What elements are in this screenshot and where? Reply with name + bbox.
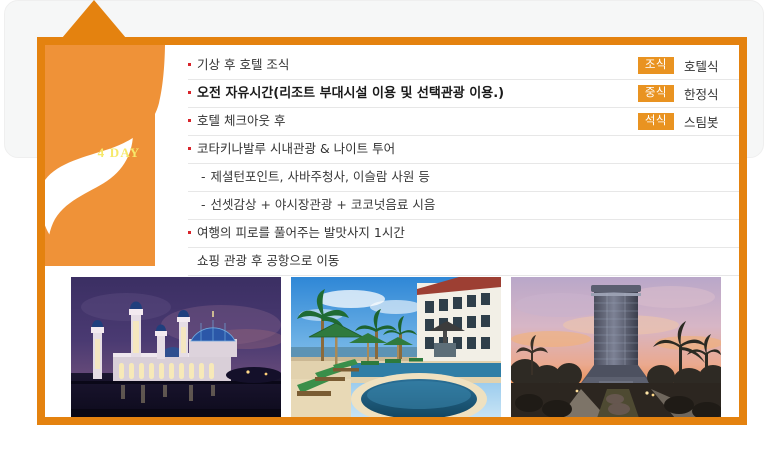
itinerary-row: 호텔 체크아웃 후 석식 스팀봇 <box>188 108 739 136</box>
itinerary-row: 기상 후 호텔 조식 조식 호텔식 <box>188 52 739 80</box>
meal-tag-badge: 조식 <box>638 57 674 74</box>
itinerary-row-text: 쇼핑 관광 후 공항으로 이동 <box>197 255 339 268</box>
itinerary-list: 기상 후 호텔 조식 조식 호텔식 오전 자유시간(리조트 부대시설 이용 및 … <box>188 52 739 276</box>
itinerary-row: 여행의 피로를 풀어주는 발맛사지 1시간 <box>188 220 739 248</box>
itinerary-row: 쇼핑 관광 후 공항으로 이동 <box>188 248 739 276</box>
top-pointer-arrow <box>62 0 126 38</box>
itinerary-row-text: 선셋감상 + 야시장관광 + 코코넛음료 시음 <box>211 199 436 212</box>
city-mosque-night-photo <box>71 277 281 417</box>
itinerary-row: - 제셜턴포인트, 사바주청사, 이슬람 사원 등 <box>188 164 739 192</box>
itinerary-row-text: 코타키나발루 시내관광 & 나이트 투어 <box>197 143 395 156</box>
itinerary-row-text: 호텔 체크아웃 후 <box>197 115 285 128</box>
itinerary-row: 오전 자유시간(리조트 부대시설 이용 및 선택관광 이용.) 중식 한정식 <box>188 80 739 108</box>
meal-tag-badge: 석식 <box>638 113 674 130</box>
sabah-tower-sunset-photo <box>511 277 721 417</box>
meal-entry: 중식 한정식 <box>638 84 736 103</box>
bullet-icon <box>188 119 191 122</box>
bullet-icon <box>188 91 191 94</box>
meal-entry: 조식 호텔식 <box>638 56 736 75</box>
itinerary-row-text: 제셜턴포인트, 사바주청사, 이슬람 사원 등 <box>211 171 430 184</box>
itinerary-row: - 선셋감상 + 야시장관광 + 코코넛음료 시음 <box>188 192 739 220</box>
photo-strip <box>71 277 721 417</box>
bullet-icon <box>188 147 191 150</box>
dash-marker: - <box>201 199 206 212</box>
dash-marker: - <box>201 171 206 184</box>
day-itinerary-card: 4 DAY 기상 후 호텔 조식 조식 호텔식 오전 자유시간(리조트 부대시설… <box>37 37 747 425</box>
meal-tag-badge: 중식 <box>638 85 674 102</box>
bullet-icon <box>188 231 191 234</box>
itinerary-row: 코타키나발루 시내관광 & 나이트 투어 <box>188 136 739 164</box>
itinerary-row-text: 여행의 피로를 풀어주는 발맛사지 1시간 <box>197 227 405 240</box>
meal-value-text: 스팀봇 <box>684 112 736 131</box>
bullet-icon <box>188 63 191 66</box>
meal-entry: 석식 스팀봇 <box>638 112 736 131</box>
itinerary-row-text: 오전 자유시간(리조트 부대시설 이용 및 선택관광 이용.) <box>197 87 504 100</box>
resort-pool-photo <box>291 277 501 417</box>
meal-value-text: 한정식 <box>684 84 736 103</box>
itinerary-row-text: 기상 후 호텔 조식 <box>197 59 289 72</box>
meal-value-text: 호텔식 <box>684 56 736 75</box>
day-badge-shape <box>45 45 185 266</box>
